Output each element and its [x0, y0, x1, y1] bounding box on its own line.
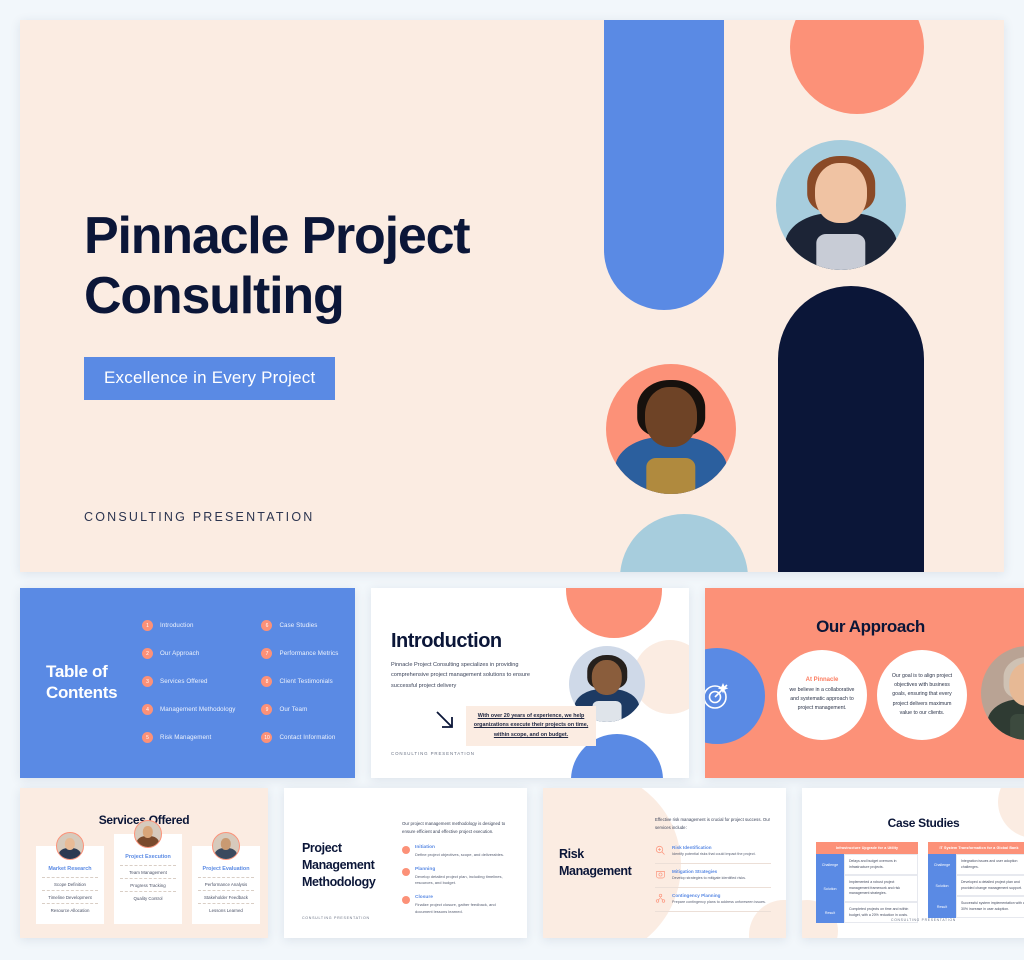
row-value: Developed a detailed project plan and pr… — [956, 875, 1024, 896]
photo-woman-hijab — [981, 646, 1024, 740]
risk-item: Risk Identification Identify potential r… — [655, 840, 771, 864]
row-value: Integration issues and user adoption cha… — [956, 854, 1024, 875]
avatar — [212, 832, 240, 860]
hero-footer-label: CONSULTING PRESENTATION — [84, 510, 314, 524]
toc-label: Contact Information — [279, 734, 335, 741]
toc-label: Our Approach — [160, 650, 199, 657]
avatar — [134, 820, 162, 848]
photo-woman-consultant — [776, 140, 906, 270]
hero-tagline-badge: Excellence in Every Project — [84, 357, 335, 400]
step-number-dot — [402, 896, 410, 904]
toc-number: 7 — [261, 648, 272, 659]
toc-item[interactable]: 9Our Team — [261, 704, 338, 715]
slide-services-offered[interactable]: Services Offered Market Research Scope D… — [20, 788, 268, 938]
shield-gear-icon — [655, 869, 666, 880]
case-study-table: IT System Transformation for a Global Ba… — [928, 842, 1024, 923]
approach-card-two: Our goal is to align project objectives … — [877, 650, 967, 740]
table-row: Result Successful system implementation … — [928, 896, 1024, 917]
slide-title-methodology: Project Management Methodology — [302, 840, 375, 891]
coral-circle-shape — [790, 20, 924, 114]
network-nodes-icon — [655, 893, 666, 904]
toc-number: 2 — [142, 648, 153, 659]
slide-title-our-approach: Our Approach — [705, 617, 1024, 637]
step-description: Finalize project closure, gather feedbac… — [415, 902, 510, 916]
page-title: Pinnacle Project Consulting — [84, 206, 604, 327]
table-row: Solution Developed a detailed project pl… — [928, 875, 1024, 896]
risk-item-description: Develop strategies to mitigate identifie… — [672, 876, 746, 882]
toc-label: Introduction — [160, 622, 194, 629]
service-card-heading: Market Research — [42, 866, 98, 872]
service-card-item: Performance Analysis — [198, 877, 254, 890]
slide-title-introduction: Introduction — [391, 630, 502, 653]
services-card-list: Market Research Scope Definition Timelin… — [36, 846, 260, 924]
service-card: Project Evaluation Performance Analysis … — [192, 846, 260, 924]
row-label: Solution — [816, 875, 844, 902]
toc-label: Services Offered — [160, 678, 208, 685]
presentation-preview-page: Pinnacle Project Consulting Excellence i… — [0, 0, 1024, 960]
table-row: Solution Implemented a robust project ma… — [816, 875, 918, 902]
toc-label: Case Studies — [279, 622, 317, 629]
toc-number: 3 — [142, 676, 153, 687]
blue-pill-shape — [604, 20, 724, 310]
slide-title-case-studies: Case Studies — [802, 816, 1024, 830]
toc-item[interactable]: 5Risk Management — [142, 732, 235, 743]
toc-number: 10 — [261, 732, 272, 743]
risk-item: Contingency Planning Prepare contingency… — [655, 888, 771, 912]
slide-our-approach[interactable]: Our Approach At Pinnacle we believe in a… — [705, 588, 1024, 778]
toc-item[interactable]: 4Management Methodology — [142, 704, 235, 715]
service-card: Project Execution Team Management Progre… — [114, 834, 182, 924]
toc-columns: 1Introduction 2Our Approach 3Services Of… — [142, 620, 338, 743]
introduction-body-text: Pinnacle Project Consulting specializes … — [391, 660, 531, 691]
toc-item[interactable]: 2Our Approach — [142, 648, 235, 659]
slide-title-risk: Risk Management — [559, 846, 631, 880]
risk-item-description: Identify potential risks that could impa… — [672, 852, 756, 858]
service-card-item: Stakeholder Feedback — [198, 890, 254, 903]
service-card-item: Resource Allocation — [42, 903, 98, 916]
table-row: Challenge Delays and budget overruns in … — [816, 854, 918, 875]
risk-item-heading: Risk Identification — [672, 845, 756, 850]
toc-column-left: 1Introduction 2Our Approach 3Services Of… — [142, 620, 235, 743]
service-card-item: Lessons Learned — [198, 903, 254, 916]
table-row: Challenge Integration issues and user ad… — [928, 854, 1024, 875]
target-icon-circle — [705, 648, 765, 744]
approach-card-one: At Pinnacle we believe in a collaborativ… — [777, 650, 867, 740]
slide-methodology[interactable]: Project Management Methodology CONSULTIN… — [284, 788, 527, 938]
service-card-item: Timeline Development — [42, 890, 98, 903]
row-label: Challenge — [816, 854, 844, 875]
slide-row-2: Table of Contents 1Introduction 2Our App… — [20, 588, 1024, 778]
service-card: Market Research Scope Definition Timelin… — [36, 846, 104, 924]
toc-number: 9 — [261, 704, 272, 715]
cream-circle-shape — [998, 788, 1024, 838]
toc-item[interactable]: 7Performance Metrics — [261, 648, 338, 659]
methodology-intro-text: Our project management methodology is de… — [402, 820, 510, 836]
step-description: Define project objectives, scope, and de… — [415, 852, 504, 859]
methodology-step: Initiation Define project objectives, sc… — [402, 845, 510, 859]
slide-introduction[interactable]: Introduction Pinnacle Project Consulting… — [371, 588, 689, 778]
row-value: Implemented a robust project management … — [844, 875, 918, 902]
row-label: Challenge — [928, 854, 956, 875]
toc-number: 5 — [142, 732, 153, 743]
toc-item[interactable]: 6Case Studies — [261, 620, 338, 631]
introduction-highlight-note: With over 20 years of experience, we hel… — [466, 706, 596, 746]
magnifier-plus-icon — [655, 845, 666, 856]
row-value: Successful system implementation with a … — [956, 896, 1024, 917]
row-label: Solution — [928, 875, 956, 896]
approach-card-one-text: we believe in a collaborative and system… — [789, 686, 855, 713]
slide-footer-label: CONSULTING PRESENTATION — [391, 751, 475, 756]
avatar — [56, 832, 84, 860]
methodology-content: Our project management methodology is de… — [402, 820, 510, 924]
toc-item[interactable]: 8Client Testimonials — [261, 676, 338, 687]
step-heading: Planning — [415, 867, 510, 872]
toc-column-right: 6Case Studies 7Performance Metrics 8Clie… — [261, 620, 338, 743]
step-number-dot — [402, 846, 410, 854]
toc-label: Risk Management — [160, 734, 211, 741]
row-label: Result — [928, 896, 956, 917]
service-card-heading: Project Evaluation — [198, 866, 254, 872]
table-header: Infrastructure Upgrade for a Utility — [816, 842, 918, 854]
toc-item[interactable]: 10Contact Information — [261, 732, 338, 743]
service-card-item: Scope Definition — [42, 877, 98, 890]
navy-arch-shape — [778, 286, 924, 572]
risk-item-heading: Mitigation Strategies — [672, 869, 746, 874]
photo-man-consultant — [606, 364, 736, 494]
toc-number: 4 — [142, 704, 153, 715]
risk-item-heading: Contingency Planning — [672, 893, 766, 898]
toc-label: Our Team — [279, 706, 307, 713]
risk-item-description: Prepare contingency plans to address unf… — [672, 900, 766, 906]
toc-label: Client Testimonials — [279, 678, 332, 685]
arrow-down-right-icon — [433, 708, 459, 734]
risk-item: Mitigation Strategies Develop strategies… — [655, 864, 771, 888]
toc-number: 6 — [261, 620, 272, 631]
slide-row-3: Services Offered Market Research Scope D… — [20, 788, 1024, 938]
toc-item[interactable]: 3Services Offered — [142, 676, 235, 687]
risk-intro-text: Effective risk management is crucial for… — [655, 816, 771, 831]
toc-item[interactable]: 1Introduction — [142, 620, 235, 631]
approach-card-one-heading: At Pinnacle — [806, 677, 839, 683]
toc-title: Table of Contents — [46, 662, 117, 703]
service-card-item: Progress Tracking — [120, 878, 176, 891]
methodology-step: Closure Finalize project closure, gather… — [402, 895, 510, 916]
step-number-dot — [402, 868, 410, 876]
light-blue-circle-shape — [620, 514, 748, 572]
case-studies-tables: Infrastructure Upgrade for a Utility Cha… — [816, 842, 1024, 923]
slide-table-of-contents[interactable]: Table of Contents 1Introduction 2Our App… — [20, 588, 355, 778]
toc-number: 1 — [142, 620, 153, 631]
target-icon — [705, 679, 734, 713]
row-value: Delays and budget overruns in infrastruc… — [844, 854, 918, 875]
toc-number: 8 — [261, 676, 272, 687]
toc-label: Management Methodology — [160, 706, 235, 713]
slide-footer-label: CONSULTING PRESENTATION — [802, 918, 1024, 922]
service-card-item: Quality Control — [120, 891, 176, 904]
risk-content: Effective risk management is crucial for… — [655, 816, 771, 912]
service-card-item: Team Management — [120, 865, 176, 878]
slide-title[interactable]: Pinnacle Project Consulting Excellence i… — [20, 20, 1004, 572]
toc-label: Performance Metrics — [279, 650, 338, 657]
approach-card-two-text: Our goal is to align project objectives … — [889, 672, 955, 717]
service-card-heading: Project Execution — [120, 854, 176, 860]
slide-case-studies[interactable]: Case Studies Infrastructure Upgrade for … — [802, 788, 1024, 938]
step-heading: Initiation — [415, 845, 504, 850]
coral-circle-shape — [566, 588, 662, 638]
hero-text-block: Pinnacle Project Consulting Excellence i… — [84, 206, 604, 400]
slide-footer-label: CONSULTING PRESENTATION — [302, 916, 370, 920]
step-heading: Closure — [415, 895, 510, 900]
case-study-table: Infrastructure Upgrade for a Utility Cha… — [816, 842, 918, 923]
methodology-step: Planning Develop detailed project plan, … — [402, 867, 510, 888]
slide-risk-management[interactable]: Risk Management Effective risk managemen… — [543, 788, 786, 938]
table-header: IT System Transformation for a Global Ba… — [928, 842, 1024, 854]
step-description: Develop detailed project plan, including… — [415, 874, 510, 888]
